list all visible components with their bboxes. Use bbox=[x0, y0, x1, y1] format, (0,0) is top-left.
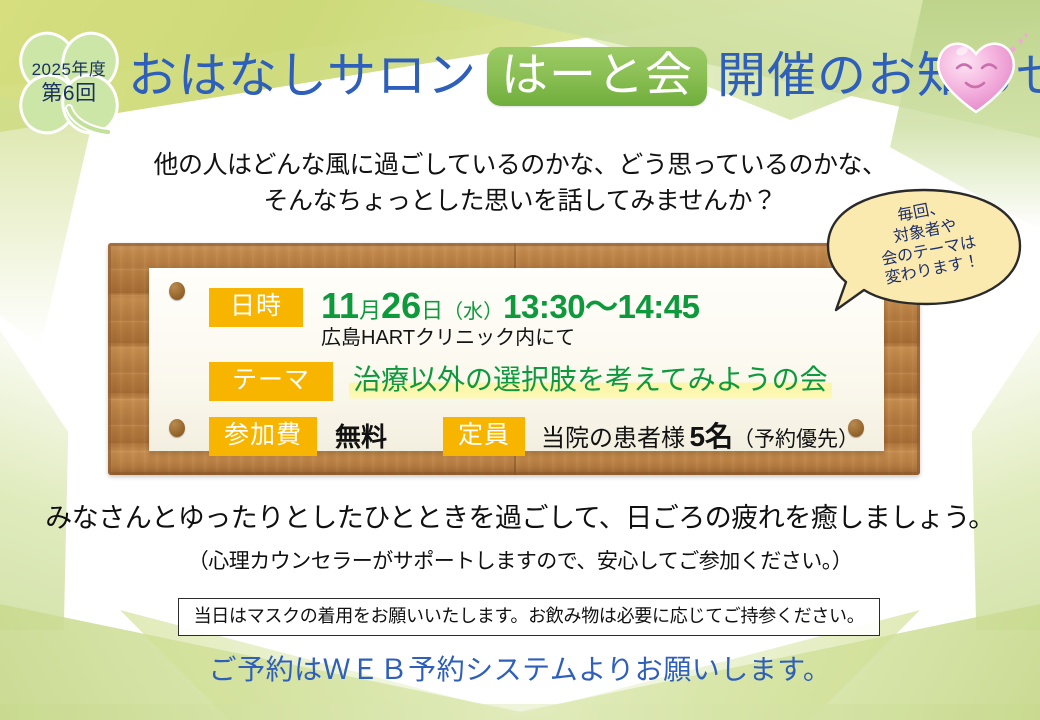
date-day-of-week: （水） bbox=[443, 301, 503, 323]
capacity-value: 当院の患者様 5名（予約優先） bbox=[541, 423, 859, 451]
page-title: おはなしサロン はーと会 開催のお知らせ bbox=[128, 38, 1040, 114]
theme-value: 治療以外の選択肢を考えてみようの会 bbox=[349, 363, 832, 400]
lead-line-1: 他の人はどんな風に過ごしているのかな、どう思っているのかな、 bbox=[0, 148, 1040, 184]
title-part-one: おはなしサロン bbox=[128, 52, 477, 101]
details-paper: 日時 11月26日（水）13:30〜14:45 広島HARTクリニック内にて テ… bbox=[149, 268, 884, 451]
reservation-cta: ご予約はＷＥＢ予約システムよりお願いします。 bbox=[0, 655, 1040, 686]
outro-sub: （心理カウンセラーがサポートしますので、安心してご参加ください。） bbox=[0, 550, 1040, 573]
date-day-unit: 日 bbox=[421, 298, 443, 323]
callout-bubble: 毎回、 対象者や 会のテーマは 変わります！ bbox=[822, 186, 1026, 314]
date-time-range: 13:30〜14:45 bbox=[503, 288, 699, 325]
details-rows: 日時 11月26日（水）13:30〜14:45 広島HARTクリニック内にて テ… bbox=[209, 286, 854, 456]
capacity-target: 当院の患者様 bbox=[541, 425, 685, 452]
smiling-heart-icon bbox=[932, 32, 1028, 118]
capacity-note: （予約優先） bbox=[733, 428, 859, 451]
title-highlight-badge: はーと会 bbox=[487, 47, 707, 106]
outro-main: みなさんとゆったりとしたひとときを過ごして、日ごろの疲れを癒しましょう。 bbox=[0, 504, 1040, 534]
date-value-block: 11月26日（水）13:30〜14:45 広島HARTクリニック内にて bbox=[321, 288, 699, 348]
date-tag: 日時 bbox=[209, 288, 303, 327]
fee-value: 無料 bbox=[335, 424, 387, 450]
heart-mascot bbox=[932, 32, 1028, 118]
theme-tag: テーマ bbox=[209, 362, 333, 401]
date-month-number: 11 bbox=[321, 285, 359, 326]
flyer-canvas: 2025年度 第6回 おはなしサロン はーと会 開催のお知らせ bbox=[0, 0, 1040, 720]
detail-row-fee-capacity: 参加費 無料 定員 当院の患者様 5名（予約優先） bbox=[209, 417, 854, 456]
badge-year-label: 2025年度 bbox=[32, 61, 107, 80]
date-day-number: 26 bbox=[381, 285, 421, 326]
capacity-tag: 定員 bbox=[443, 417, 525, 456]
pin-bottom-left-icon bbox=[169, 419, 185, 437]
background-left-mid-wedge bbox=[0, 330, 110, 630]
fee-tag: 参加費 bbox=[209, 417, 317, 456]
detail-row-date: 日時 11月26日（水）13:30〜14:45 広島HARTクリニック内にて bbox=[209, 288, 854, 348]
session-badge: 2025年度 第6回 bbox=[8, 24, 130, 142]
date-venue: 広島HARTクリニック内にて bbox=[321, 328, 699, 348]
capacity-count: 5名 bbox=[689, 421, 733, 452]
pin-top-left-icon bbox=[169, 282, 185, 300]
badge-session-label: 第6回 bbox=[41, 82, 96, 105]
notice-box: 当日はマスクの着用をお願いいたします。お飲み物は必要に応じてご持参ください。 bbox=[178, 598, 880, 636]
date-month-unit: 月 bbox=[359, 298, 381, 323]
date-main-line: 11月26日（水）13:30〜14:45 bbox=[321, 288, 699, 324]
detail-row-theme: テーマ 治療以外の選択肢を考えてみようの会 bbox=[209, 362, 854, 401]
background-bottom-strip bbox=[0, 704, 1040, 720]
background-right-mid-wedge bbox=[930, 330, 1040, 630]
